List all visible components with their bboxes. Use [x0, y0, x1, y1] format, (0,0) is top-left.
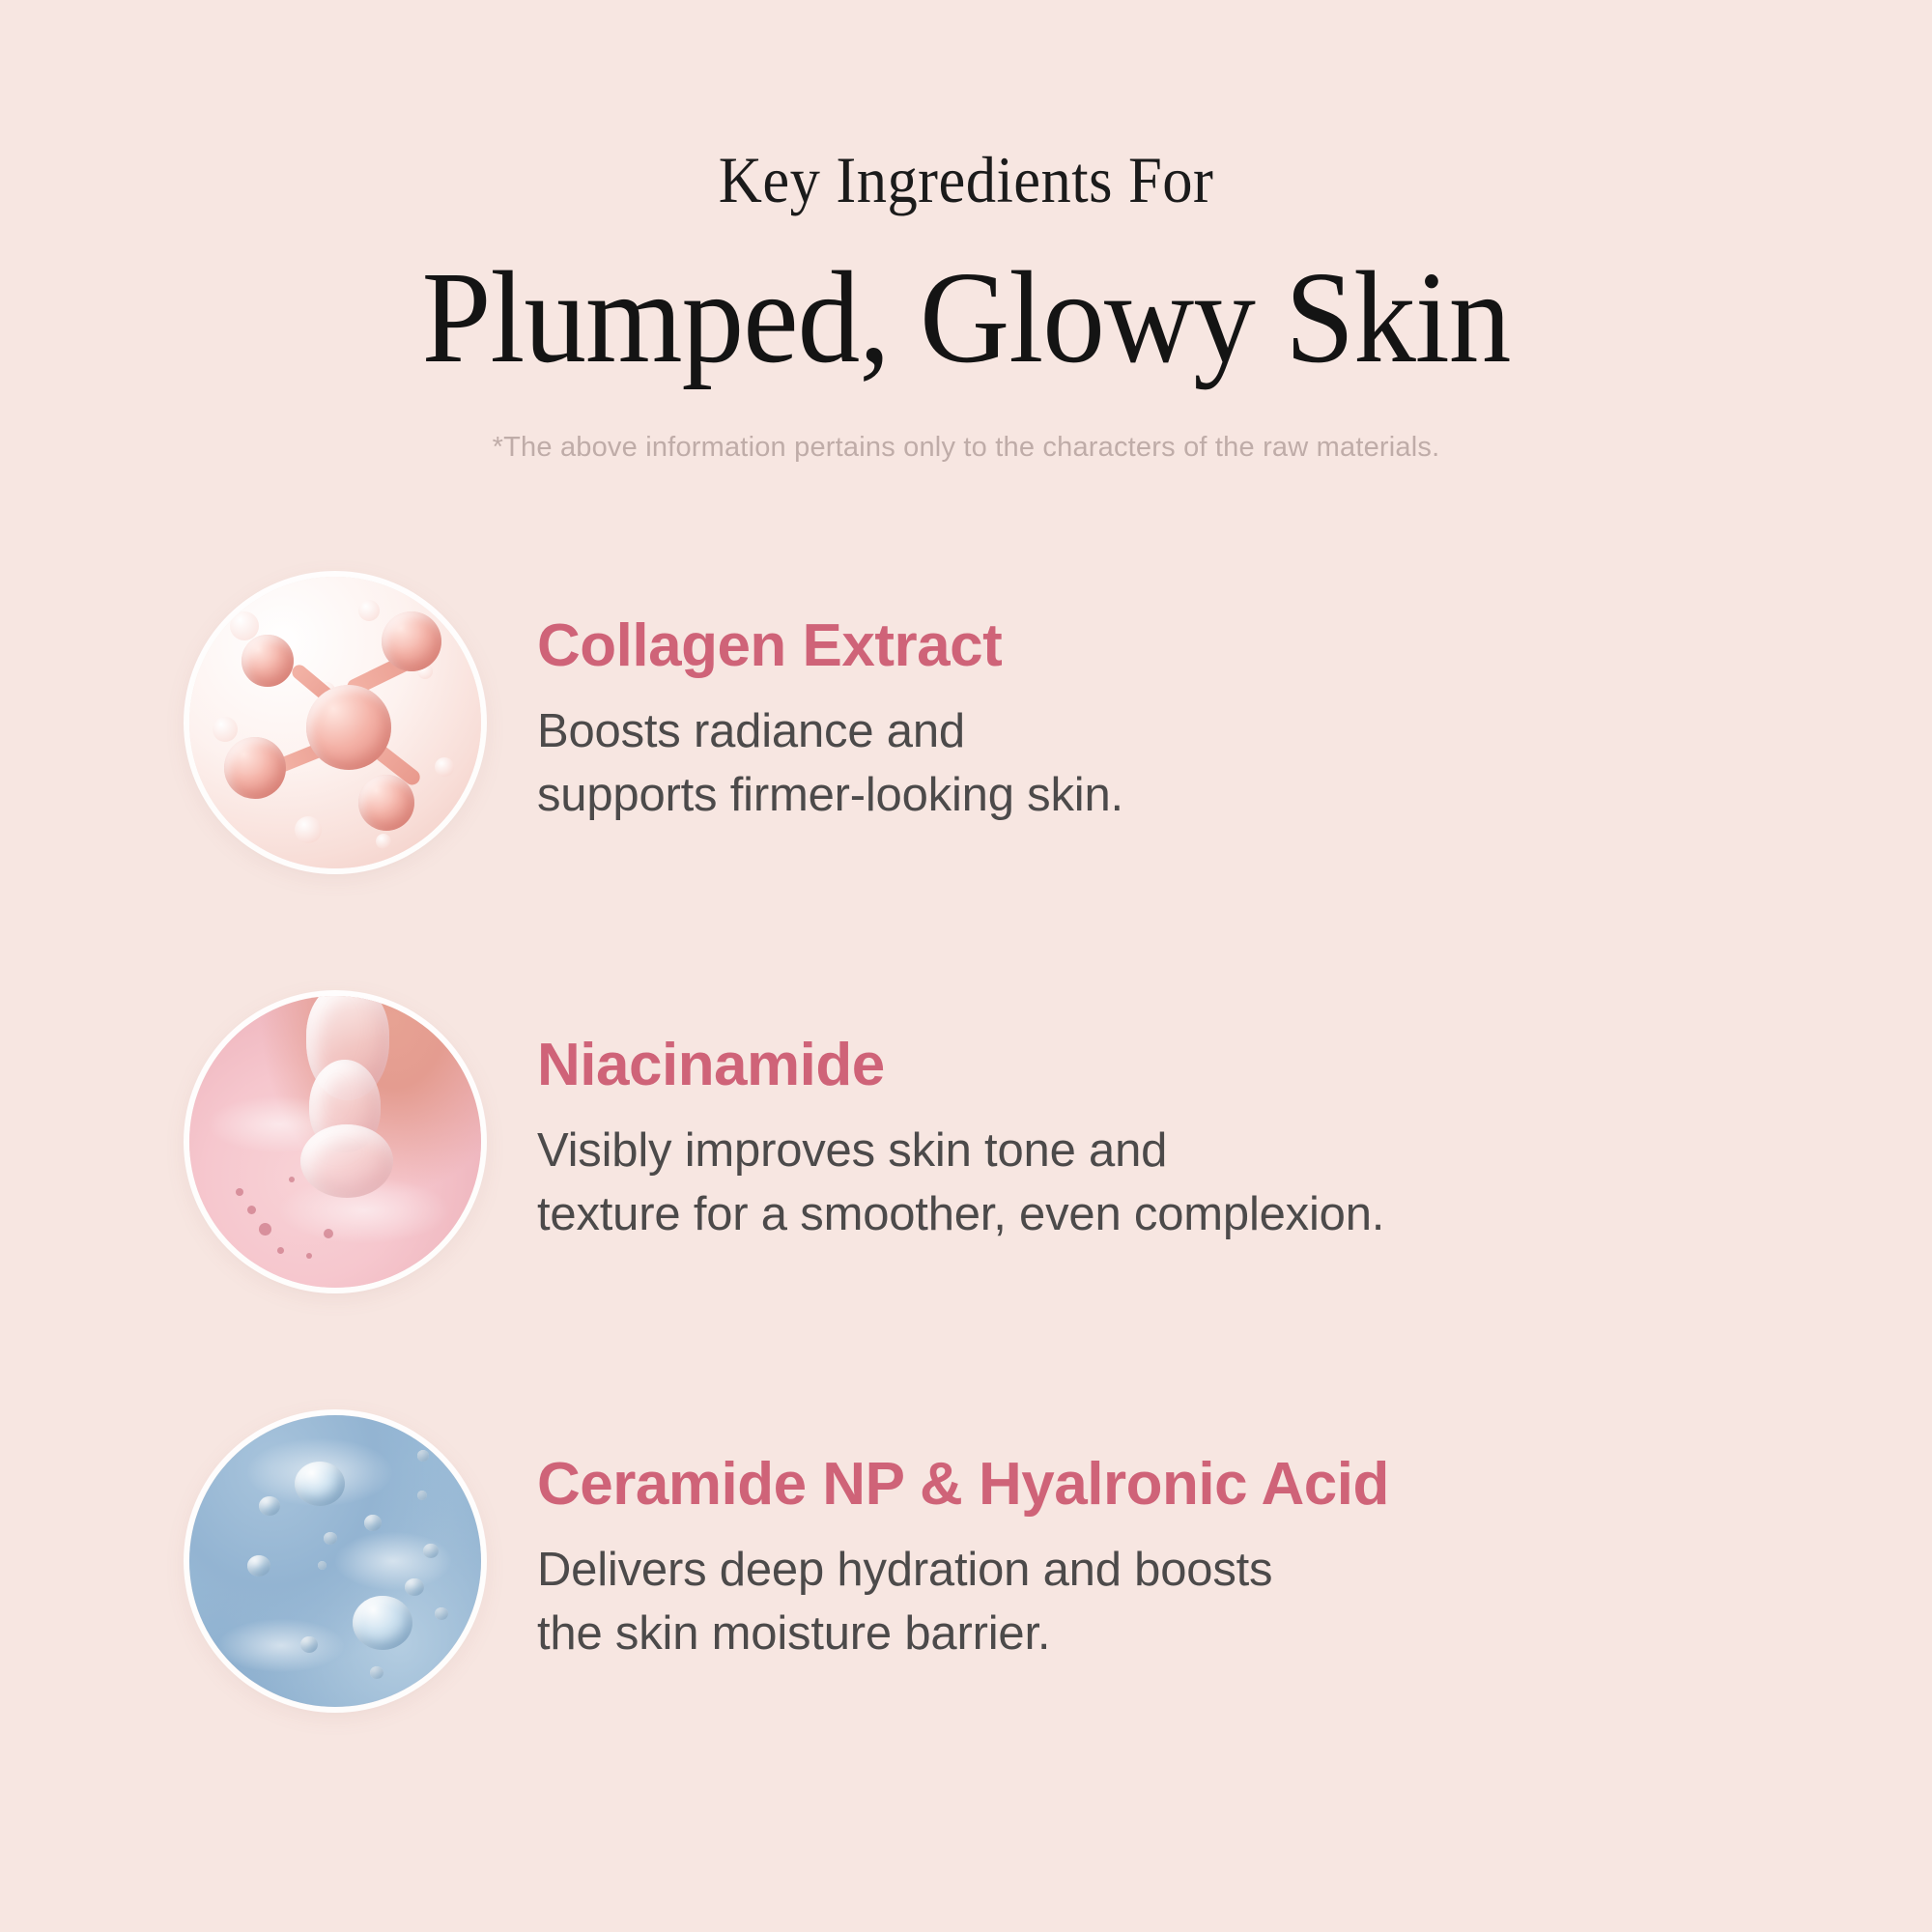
ingredient-text-collagen: Collagen Extract Boosts radiance and sup… — [537, 613, 1123, 832]
ingredient-description: Visibly improves skin tone and texture f… — [537, 1120, 1384, 1246]
eyebrow-text: Key Ingredients For — [77, 147, 1855, 213]
ingredient-description: Delivers deep hydration and boosts the s… — [537, 1539, 1389, 1665]
ingredient-row-collagen: Collagen Extract Boosts radiance and sup… — [0, 524, 1932, 922]
ingredient-list: Collagen Extract Boosts radiance and sup… — [0, 524, 1932, 1760]
ingredient-text-niacinamide: Niacinamide Visibly improves skin tone a… — [537, 1033, 1384, 1251]
pink-serum-texture-image — [189, 996, 481, 1288]
description-line-2: supports firmer-looking skin. — [537, 764, 1123, 828]
description-line-2: the skin moisture barrier. — [537, 1603, 1389, 1666]
description-line-2: texture for a smoother, even complexion. — [537, 1183, 1384, 1247]
description-line-1: Visibly improves skin tone and — [537, 1124, 1167, 1177]
ingredient-title: Niacinamide — [537, 1033, 1384, 1098]
ingredient-row-ceramide: Ceramide NP & Hyalronic Acid Delivers de… — [0, 1362, 1932, 1760]
ingredient-title: Collagen Extract — [537, 613, 1123, 679]
description-line-1: Delivers deep hydration and boosts — [537, 1544, 1272, 1596]
description-line-1: Boosts radiance and — [537, 705, 965, 757]
collagen-molecule-image — [189, 577, 481, 868]
page-title: Plumped, Glowy Skin — [48, 247, 1884, 389]
disclaimer-text: *The above information pertains only to … — [0, 432, 1932, 464]
ingredient-row-niacinamide: Niacinamide Visibly improves skin tone a… — [0, 943, 1932, 1341]
ingredient-infographic: Key Ingredients For Plumped, Glowy Skin … — [0, 0, 1932, 1932]
ingredient-description: Boosts radiance and supports firmer-look… — [537, 700, 1123, 827]
header-section: Key Ingredients For Plumped, Glowy Skin … — [0, 0, 1932, 464]
ingredient-title: Ceramide NP & Hyalronic Acid — [537, 1452, 1389, 1518]
ingredient-text-ceramide: Ceramide NP & Hyalronic Acid Delivers de… — [537, 1452, 1389, 1670]
blue-water-droplets-image — [189, 1415, 481, 1707]
